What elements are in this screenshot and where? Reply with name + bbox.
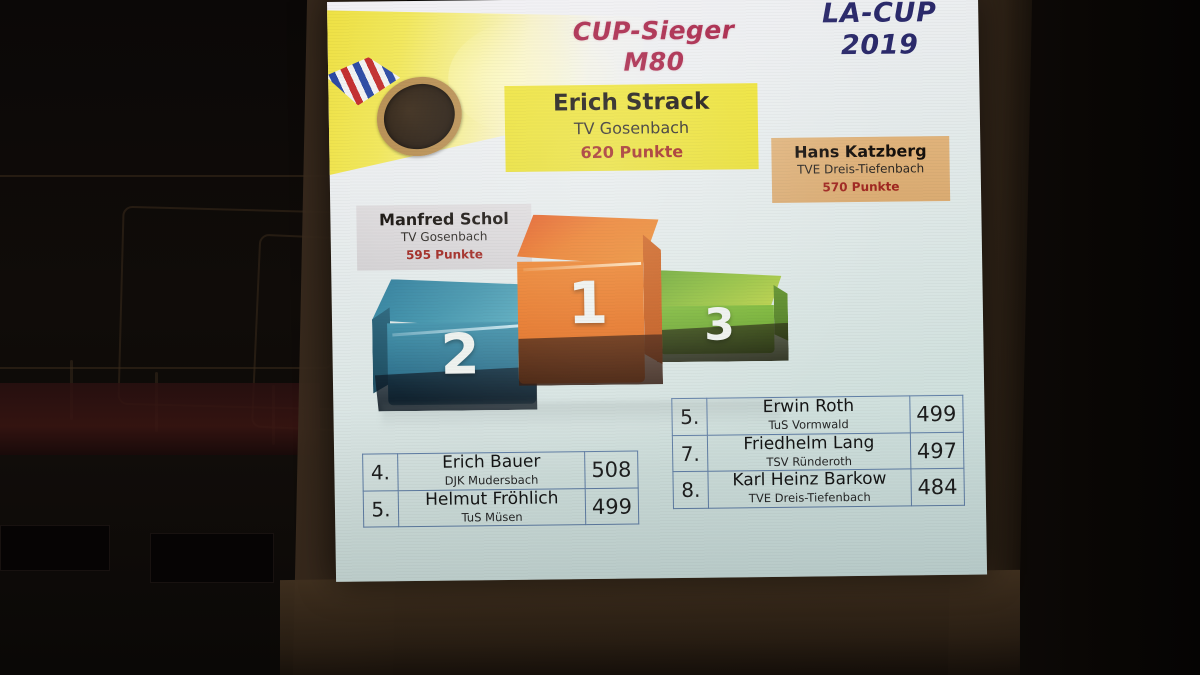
auditorium-room: CUP-Sieger M80 LA-CUP 2019 Erich Strack … bbox=[0, 0, 1200, 675]
winner-plate-third: Hans Katzberg TVE Dreis-Tiefenbach 570 P… bbox=[771, 136, 950, 203]
cell-points: 499 bbox=[585, 488, 639, 525]
shelf-panel bbox=[0, 525, 110, 571]
winner-points-third: 570 Punkte bbox=[782, 178, 940, 197]
athlete-club: TuS Vormwald bbox=[708, 415, 910, 434]
podium-number-second: 2 bbox=[440, 322, 480, 387]
winner-plate-first: Erich Strack TV Gosenbach 620 Punkte bbox=[504, 83, 758, 172]
podium-number-first: 1 bbox=[567, 269, 608, 337]
event-name: LA-CUP bbox=[822, 0, 937, 29]
table-row: 4. Erich Bauer DJK Mudersbach 508 bbox=[363, 451, 639, 491]
cell-points: 484 bbox=[911, 469, 965, 506]
athlete-name: Erwin Roth bbox=[708, 396, 910, 417]
cell-rank: 8. bbox=[673, 472, 709, 509]
cell-name: Friedhelm Lang TSV Ründeroth bbox=[708, 433, 911, 472]
cell-rank: 7. bbox=[672, 435, 708, 472]
presentation-slide: CUP-Sieger M80 LA-CUP 2019 Erich Strack … bbox=[327, 0, 987, 582]
podium-block-first-top bbox=[516, 213, 659, 267]
cell-rank: 5. bbox=[363, 490, 399, 527]
red-wall-band bbox=[0, 383, 320, 461]
slide-title-line1: CUP-Sieger bbox=[572, 15, 734, 46]
dark-shelf bbox=[0, 455, 320, 675]
athlete-club: DJK Mudersbach bbox=[398, 471, 584, 490]
cell-name: Karl Heinz Barkow TVE Dreis-Tiefenbach bbox=[708, 469, 911, 508]
floor-shadow bbox=[280, 570, 1020, 675]
table-row: 7. Friedhelm Lang TSV Ründeroth 497 bbox=[672, 432, 964, 472]
winner-club-third: TVE Dreis-Tiefenbach bbox=[782, 160, 940, 179]
athlete-club: TuS Müsen bbox=[399, 508, 585, 527]
cell-name: Erich Bauer DJK Mudersbach bbox=[398, 452, 586, 491]
athlete-club: TVE Dreis-Tiefenbach bbox=[709, 489, 911, 508]
cell-rank: 5. bbox=[672, 398, 708, 435]
cell-points: 497 bbox=[910, 432, 964, 469]
cell-rank: 4. bbox=[363, 454, 399, 491]
cell-points: 499 bbox=[909, 395, 963, 432]
podium-graphic: 2 3 1 bbox=[370, 206, 893, 427]
podium-number-third: 3 bbox=[704, 299, 735, 350]
slide-title-category: M80 bbox=[524, 45, 784, 78]
table-row: 5. Erwin Roth TuS Vormwald 499 bbox=[672, 395, 964, 435]
athlete-name: Karl Heinz Barkow bbox=[709, 470, 911, 491]
shelf-panel bbox=[150, 533, 274, 583]
slide-title: CUP-Sieger M80 bbox=[523, 15, 784, 79]
table-row: 5. Helmut Fröhlich TuS Müsen 499 bbox=[363, 488, 639, 528]
table-row: 8. Karl Heinz Barkow TVE Dreis-Tiefenbac… bbox=[673, 469, 965, 509]
projection-screen: CUP-Sieger M80 LA-CUP 2019 Erich Strack … bbox=[327, 0, 987, 582]
results-table-left: 4. Erich Bauer DJK Mudersbach 508 5. Hel… bbox=[362, 450, 639, 528]
athlete-name: Friedhelm Lang bbox=[708, 433, 910, 454]
cell-points: 508 bbox=[585, 451, 639, 488]
athlete-name: Helmut Fröhlich bbox=[399, 489, 585, 510]
cell-name: Erwin Roth TuS Vormwald bbox=[707, 396, 910, 435]
cell-name: Helmut Fröhlich TuS Müsen bbox=[398, 488, 586, 527]
winner-name-first: Erich Strack bbox=[514, 88, 747, 117]
winner-name-third: Hans Katzberg bbox=[781, 141, 939, 162]
event-badge: LA-CUP 2019 bbox=[799, 0, 960, 63]
room-wall-left bbox=[0, 0, 330, 675]
results-table-right: 5. Erwin Roth TuS Vormwald 499 7. Friedh… bbox=[671, 395, 965, 509]
athlete-name: Erich Bauer bbox=[398, 452, 584, 473]
podium-block-first-shadow bbox=[518, 334, 663, 386]
winner-club-first: TV Gosenbach bbox=[515, 115, 748, 142]
event-year: 2019 bbox=[800, 29, 961, 63]
winner-points-first: 620 Punkte bbox=[515, 139, 748, 165]
